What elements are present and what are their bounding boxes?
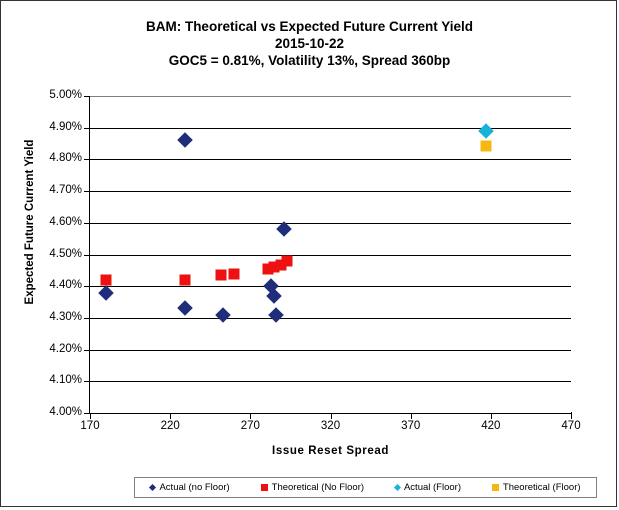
chart-title: BAM: Theoretical vs Expected Future Curr… xyxy=(1,18,618,35)
chart-subtitle-date: 2015-10-22 xyxy=(1,35,618,52)
x-axis-tick-label: 420 xyxy=(466,420,516,432)
y-axis-tick-label: 4.80% xyxy=(36,152,82,164)
gridline xyxy=(90,413,571,414)
x-axis-tick xyxy=(331,414,332,419)
data-point xyxy=(215,307,231,323)
y-axis-tick-label: 4.50% xyxy=(36,248,82,260)
x-axis-title: Issue Reset Spread xyxy=(90,445,571,457)
gridline xyxy=(90,191,571,192)
chart-legend: Actual (no Floor)Theoretical (No Floor)A… xyxy=(134,477,597,498)
gridline xyxy=(90,350,571,351)
x-axis-tick xyxy=(170,414,171,419)
x-axis-tick-label: 320 xyxy=(306,420,356,432)
legend-label: Theoretical (Floor) xyxy=(503,482,581,493)
gridline xyxy=(90,286,571,287)
x-axis-tick-label: 470 xyxy=(546,420,596,432)
y-axis-tick-label: 4.60% xyxy=(36,216,82,228)
legend-square-icon xyxy=(492,484,499,491)
y-axis-tick-label: 4.90% xyxy=(36,121,82,133)
legend-entry: Theoretical (Floor) xyxy=(492,482,581,493)
data-point xyxy=(177,301,193,317)
data-point xyxy=(478,123,494,139)
legend-label: Actual (Floor) xyxy=(404,482,461,493)
y-axis-tick-labels: 4.00%4.10%4.20%4.30%4.40%4.50%4.60%4.70%… xyxy=(32,1,82,510)
y-axis-tick-label: 4.30% xyxy=(36,311,82,323)
chart-container: BAM: Theoretical vs Expected Future Curr… xyxy=(0,0,617,507)
legend-square-icon xyxy=(261,484,268,491)
x-axis-tick xyxy=(411,414,412,419)
legend-entry: Actual (no Floor) xyxy=(150,482,229,493)
plot-area xyxy=(90,96,571,413)
y-axis-tick-label: 4.70% xyxy=(36,184,82,196)
y-axis-tick-label: 4.20% xyxy=(36,343,82,355)
data-point xyxy=(282,256,293,267)
x-axis-tick xyxy=(571,414,572,419)
legend-label: Theoretical (No Floor) xyxy=(272,482,364,493)
gridline xyxy=(90,96,571,97)
data-point xyxy=(229,268,240,279)
gridline xyxy=(90,255,571,256)
legend-entry: Actual (Floor) xyxy=(395,482,461,493)
x-axis-tick-label: 220 xyxy=(145,420,195,432)
data-point xyxy=(179,274,190,285)
gridline xyxy=(90,318,571,319)
data-point xyxy=(216,270,227,281)
gridline xyxy=(90,381,571,382)
legend-entry: Theoretical (No Floor) xyxy=(261,482,364,493)
chart-title-block: BAM: Theoretical vs Expected Future Curr… xyxy=(1,18,618,69)
data-point xyxy=(268,307,284,323)
y-axis-tick-label: 4.40% xyxy=(36,279,82,291)
gridline xyxy=(90,159,571,160)
legend-diamond-icon xyxy=(394,484,401,491)
gridline xyxy=(90,128,571,129)
x-axis-tick-label: 370 xyxy=(386,420,436,432)
x-axis-tick-label: 270 xyxy=(225,420,275,432)
x-axis-tick-label: 170 xyxy=(65,420,115,432)
x-axis-tick xyxy=(90,414,91,419)
data-point xyxy=(481,140,492,151)
y-axis-tick-label: 4.10% xyxy=(36,374,82,386)
data-point xyxy=(101,274,112,285)
legend-label: Actual (no Floor) xyxy=(159,482,229,493)
data-point xyxy=(98,285,114,301)
x-axis-tick xyxy=(250,414,251,419)
chart-subtitle-params: GOC5 = 0.81%, Volatility 13%, Spread 360… xyxy=(1,52,618,69)
gridline xyxy=(90,223,571,224)
y-axis-tick-label: 5.00% xyxy=(36,89,82,101)
x-axis-tick xyxy=(491,414,492,419)
y-axis-tick-label: 4.00% xyxy=(36,406,82,418)
legend-diamond-icon xyxy=(149,484,156,491)
data-point xyxy=(177,133,193,149)
